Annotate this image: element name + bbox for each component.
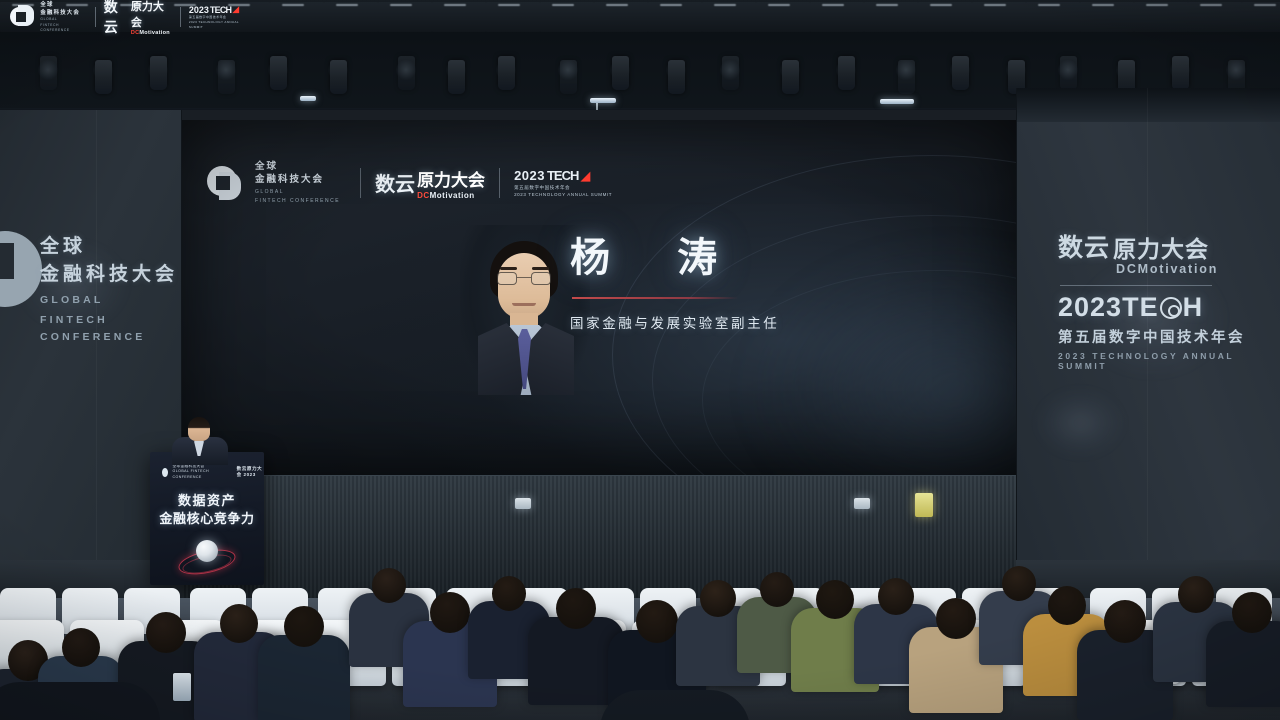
screen-brand-cn2: 原力大会 <box>417 166 485 191</box>
screen-brand-cn: 数云 <box>375 168 415 197</box>
stage-light <box>40 56 57 90</box>
audience-phone[interactable] <box>172 672 192 702</box>
stage-light <box>722 56 739 90</box>
right-wall-brand-cn1: 数云 <box>1058 228 1110 264</box>
stage-floor-light <box>854 498 870 509</box>
screen-brand-motivation-text: Motivation <box>430 191 475 200</box>
screen-year-accent-icon: ◢ <box>580 168 590 184</box>
overlay-accent-icon: ◢ <box>232 4 239 15</box>
left-wall-subtitle-line1: GLOBAL <box>40 292 178 308</box>
truss-highlight <box>768 4 790 6</box>
truss-segment <box>1134 2 1188 32</box>
screen-logo-conf-cn1: 全球 <box>255 160 340 173</box>
truss-segment <box>378 2 432 32</box>
truss-segment <box>648 2 702 32</box>
truss-highlight <box>1254 4 1276 6</box>
audience-member-head <box>1002 566 1036 601</box>
truss-highlight <box>552 4 574 6</box>
audience-member-head <box>1048 586 1086 625</box>
left-wall-branding: 全球 金融科技大会 GLOBAL FINTECH CONFERENCE <box>0 225 178 340</box>
audience-member-head <box>760 572 794 607</box>
stage-light <box>150 56 167 90</box>
stage-light <box>218 60 235 94</box>
overlay-motivation-text: Motivation <box>139 30 170 36</box>
audience-member-body <box>1206 621 1280 707</box>
audience-member-head <box>636 600 678 643</box>
truss-segment <box>270 2 324 32</box>
right-wall-tech-post: H <box>1183 292 1204 323</box>
audience-member-head <box>878 578 914 615</box>
overlay-conf-cn2: 金融科技大会 <box>40 9 86 17</box>
overlay-divider <box>95 7 96 27</box>
audience-member-head <box>62 628 100 667</box>
portrait-mouth <box>512 303 536 306</box>
overlay-year: 2023 <box>189 5 209 15</box>
logo-divider <box>499 168 500 198</box>
stage-light <box>270 56 287 90</box>
stage-light <box>952 56 969 90</box>
podium-speaker-head <box>188 417 210 441</box>
truss-highlight <box>876 4 898 6</box>
conference-stage-scene: 全球 金融科技大会 GLOBAL FINTECH CONFERENCE 数云 原… <box>0 0 1280 720</box>
right-wall-tech-pre: TE <box>1122 292 1159 323</box>
stage-light <box>448 60 465 94</box>
truss-highlight <box>930 4 952 6</box>
audience-member-head <box>1104 600 1146 643</box>
logo-divider <box>360 168 361 198</box>
right-wall-brand-cn2: 原力大会 <box>1113 230 1209 264</box>
truss-segment <box>810 2 864 32</box>
screen-brand-dc: DC <box>417 191 430 200</box>
truss-highlight <box>606 4 628 6</box>
audience-member-head <box>816 580 854 619</box>
truss-highlight <box>660 4 682 6</box>
podium-orb-graphic <box>184 540 230 585</box>
truss-highlight <box>498 4 520 6</box>
stage-light <box>612 56 629 90</box>
audience-member-head <box>492 576 526 611</box>
overlay-year-sub-en: 2023 TECHNOLOGY ANNUAL SUMMIT <box>189 20 250 30</box>
screen-logo-lockup: 全球 金融科技大会 GLOBAL FINTECH CONFERENCE 数云 原… <box>207 160 612 206</box>
truss-highlight <box>984 4 1006 6</box>
podium-title-line2: 金融核心竞争力 <box>150 510 264 528</box>
right-wall-divider <box>1060 285 1212 286</box>
screen-year-sub-en: 2023 TECHNOLOGY ANNUAL SUMMIT <box>514 191 612 198</box>
truss-highlight <box>282 4 304 6</box>
broadcast-logo-overlay: 全球 金融科技大会 GLOBAL FINTECH CONFERENCE 数云 原… <box>0 0 250 34</box>
audience-member-head <box>146 612 186 653</box>
right-wall-brand-en: DCMotivation <box>1116 262 1258 276</box>
screen-year: 2023 <box>514 168 545 183</box>
ceiling-spot-light-right <box>880 99 914 104</box>
fintech-conference-logo-icon <box>0 231 42 307</box>
fintech-conference-logo-icon <box>207 166 241 200</box>
overlay-motivation: DCMotivation <box>131 30 172 36</box>
speaker-name-underline <box>572 297 738 299</box>
truss-highlight <box>336 4 358 6</box>
foreground-silhouette <box>600 690 750 720</box>
fintech-conference-logo-icon <box>10 5 32 29</box>
truss-segment <box>1026 2 1080 32</box>
right-wall-year: 2023 <box>1058 292 1122 323</box>
truss-highlight <box>714 4 736 6</box>
ceiling-spot-light-left <box>300 96 316 101</box>
truss-segment <box>1242 2 1280 32</box>
audience-member-head <box>556 588 596 629</box>
stage-light <box>1172 56 1189 90</box>
podium-logo-brand: 数云原力大会 2023 <box>237 466 264 478</box>
stage-light <box>898 60 915 94</box>
left-wall-title-line1: 全球 <box>40 233 178 261</box>
screen-logo-conf-cn2: 金融科技大会 <box>255 173 340 186</box>
truss-segment <box>702 2 756 32</box>
audience-member-body <box>258 635 350 720</box>
speaker-name: 杨 涛 <box>570 225 920 283</box>
truss-segment <box>486 2 540 32</box>
truss-highlight <box>1200 4 1222 6</box>
led-presentation-screen[interactable]: 全球 金融科技大会 GLOBAL FINTECH CONFERENCE 数云 原… <box>182 120 1016 475</box>
podium-title: 数据资产 金融核心竞争力 <box>150 492 264 527</box>
screen-logo-conf-en2: FINTECH CONFERENCE <box>255 198 340 206</box>
truss-highlight <box>390 4 412 6</box>
stage-light <box>782 60 799 94</box>
stage-light <box>668 60 685 94</box>
truss-segment <box>1080 2 1134 32</box>
screen-brand-motivation: DCMotivation <box>417 191 485 200</box>
right-wall-branding: 数云 原力大会 DCMotivation 2023 TE H 第五届数字中国技术… <box>1058 228 1258 371</box>
left-wall-subtitle-line2: FINTECH CONFERENCE <box>40 312 178 345</box>
truss-highlight <box>1092 4 1114 6</box>
speaker-podium[interactable]: 全球金融科技大会 GLOBAL FINTECH CONFERENCE 数云原力大… <box>150 452 264 585</box>
stage-light <box>1060 56 1077 90</box>
audience-member-head <box>700 580 736 617</box>
screen-logo-conf-en1: GLOBAL <box>255 189 340 197</box>
stage-light <box>330 60 347 94</box>
truss-segment <box>972 2 1026 32</box>
podium-logo: 全球金融科技大会 GLOBAL FINTECH CONFERENCE 数云原力大… <box>162 464 264 480</box>
portrait-eyebrow-left <box>500 267 517 270</box>
wall-seam <box>96 110 97 590</box>
truss-segment <box>918 2 972 32</box>
wall-nebula-right-2 <box>1035 388 1125 458</box>
overlay-divider <box>180 7 181 27</box>
overlay-brand-cn: 数云 <box>104 0 130 37</box>
audience-member-head <box>1232 592 1272 633</box>
stage-light <box>95 60 112 94</box>
audience-member-head <box>430 592 470 633</box>
truss-highlight <box>1146 4 1168 6</box>
podium-logo-en: GLOBAL FINTECH CONFERENCE <box>173 469 214 480</box>
screen-year-tech: TECH <box>547 168 578 183</box>
truss-highlight <box>1038 4 1060 6</box>
portrait-eyebrow-right <box>532 267 549 270</box>
right-wall-summit-en: 2023 TECHNOLOGY ANNUAL SUMMIT <box>1058 351 1258 371</box>
podium-title-line1: 数据资产 <box>150 492 264 510</box>
stage-floor-light <box>515 498 531 509</box>
truss-segment <box>756 2 810 32</box>
at-symbol-icon <box>1160 297 1182 319</box>
overlay-brand-cn2: 原力大会 <box>131 0 172 30</box>
fintech-conference-logo-icon <box>162 468 168 477</box>
screen-year-sub-cn: 第五届数字中国技术年会 <box>514 184 612 191</box>
stage-light <box>838 56 855 90</box>
right-wall-tech-line: 2023 TE H <box>1058 292 1258 323</box>
speaker-title: 国家金融与发展实验室副主任 <box>570 312 920 332</box>
left-wall-title-line2: 金融科技大会 <box>40 261 178 289</box>
truss-highlight <box>822 4 844 6</box>
foreground-silhouette <box>0 682 160 720</box>
stage-floor-light-amber <box>915 493 933 517</box>
portrait-face <box>498 253 550 319</box>
audience-member-head <box>936 598 976 639</box>
overlay-conf-en2: FINTECH CONFERENCE <box>40 23 86 33</box>
stage-light <box>498 56 515 90</box>
right-wall-summit-cn: 第五届数字中国技术年会 <box>1058 326 1258 347</box>
overlay-year-tech: TECH <box>210 5 231 15</box>
truss-segment <box>432 2 486 32</box>
truss-segment <box>864 2 918 32</box>
truss-segment <box>324 2 378 32</box>
stage-light <box>398 56 415 90</box>
overlay-conf-cn1: 全球 <box>40 1 86 9</box>
truss-segment <box>594 2 648 32</box>
truss-segment <box>1188 2 1242 32</box>
audience-member-head <box>1178 576 1214 613</box>
ceiling-spot-light-center <box>590 98 616 103</box>
audience-member-head <box>220 604 258 643</box>
speaker-name-block: 杨 涛 国家金融与发展实验室副主任 <box>570 225 920 332</box>
glasses-icon <box>497 272 551 285</box>
truss-segment <box>540 2 594 32</box>
audience-member-head <box>372 568 406 603</box>
stage-light <box>560 60 577 94</box>
audience-member-head <box>284 606 324 647</box>
truss-highlight <box>444 4 466 6</box>
